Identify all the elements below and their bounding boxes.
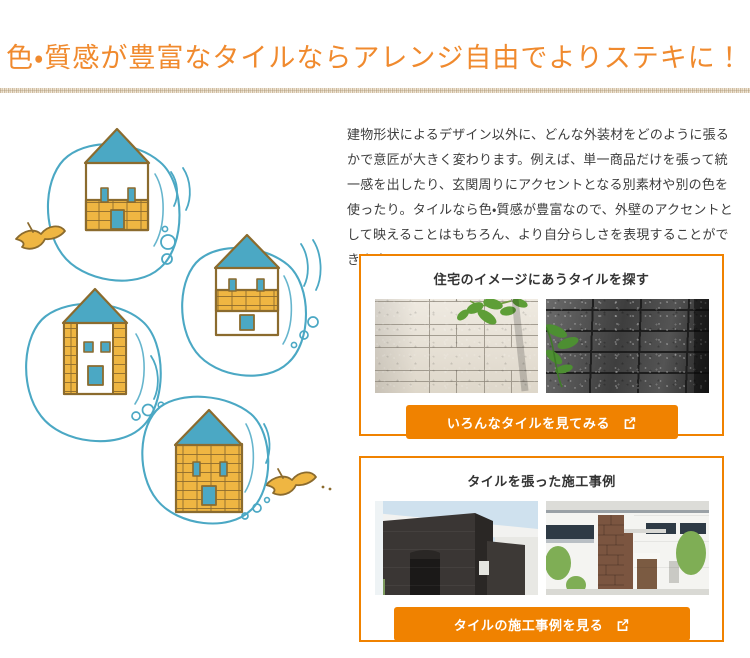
view-cases-button-label: タイルの施工事例を見る (454, 615, 604, 634)
intro-paragraph-block: 建物形状によるデザイン以外に、どんな外装材をどのように張るかで意匠が大きく変わり… (347, 122, 733, 272)
bubble-house-2 (182, 235, 320, 376)
header-divider (0, 88, 750, 93)
page-root: 色・質感が豊富なタイルならアレンジ自由でよりステキに！ (0, 0, 750, 658)
houses-illustration (8, 104, 338, 554)
card-button-row: タイルの施工事例を見る (361, 607, 722, 641)
bird-2 (266, 469, 331, 495)
card-thumbnails (361, 501, 722, 595)
card-construction-cases: タイルを張った施工事例 (359, 456, 724, 642)
card-title: タイルを張った施工事例 (361, 471, 722, 490)
card-find-tiles: 住宅のイメージにあうタイルを探す (359, 254, 724, 436)
bubble-house-4 (142, 397, 269, 524)
card-title: 住宅のイメージにあうタイルを探す (361, 269, 722, 288)
intro-paragraph: 建物形状によるデザイン以外に、どんな外装材をどのように張るかで意匠が大きく変わり… (347, 122, 733, 272)
view-tiles-button-label: いろんなタイルを見てみる (447, 413, 610, 432)
view-tiles-button[interactable]: いろんなタイルを見てみる (406, 405, 678, 439)
thumbnail-white-house-brown-brick-accent (546, 501, 709, 595)
view-cases-button[interactable]: タイルの施工事例を見る (394, 607, 690, 641)
bubble-house-1 (48, 129, 190, 281)
bubble-house-3 (26, 289, 164, 441)
thumbnail-dark-gray-stone-tile-wall (546, 299, 709, 393)
external-link-icon (616, 618, 629, 631)
thumbnail-light-beige-tile-wall (375, 299, 538, 393)
external-link-icon (623, 416, 636, 429)
page-title: 色・質感が豊富なタイルならアレンジ自由でよりステキに！ (0, 36, 750, 75)
thumbnail-charcoal-tiled-house (375, 501, 538, 595)
card-thumbnails (361, 299, 722, 393)
card-button-row: いろんなタイルを見てみる (361, 405, 722, 439)
